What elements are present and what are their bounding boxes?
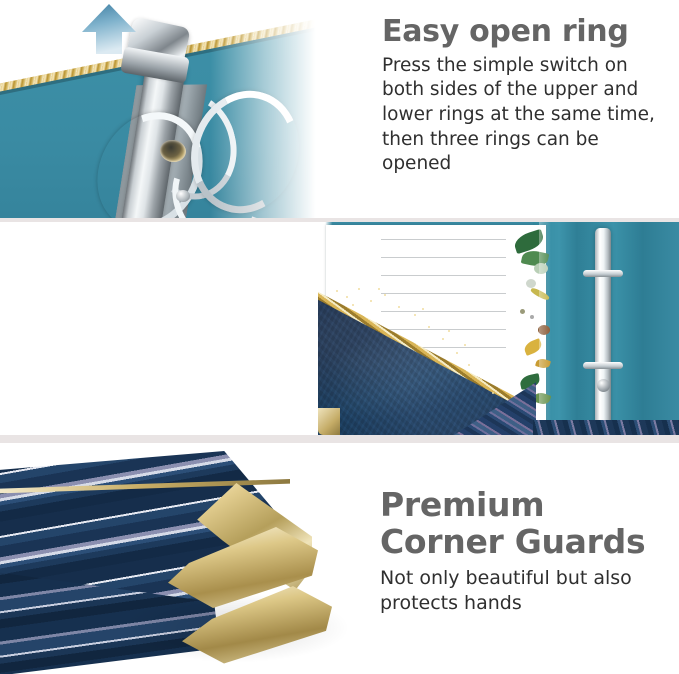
text-premium-corner-guards: Premium Corner Guards Not only beautiful… — [380, 488, 670, 616]
corner-guard-photo — [0, 443, 370, 674]
heading-easy-open-ring: Easy open ring — [382, 16, 664, 48]
binder-spine-edge — [539, 222, 551, 435]
mechanism-rivet-small — [176, 190, 190, 202]
heading-premium-corner-guards-line2: Corner Guards — [380, 525, 670, 560]
body-premium-corner-guards: Not only beautiful but also protects han… — [380, 566, 670, 617]
panel-easy-open-ring: Easy open ring Press the simple switch o… — [0, 0, 679, 218]
panel-built-in-pockets: Built in pockets To store loose document — [0, 222, 679, 435]
ring-collar — [583, 270, 623, 277]
marble-bottom-strip — [533, 420, 679, 435]
arrow-up-icon — [78, 2, 140, 54]
ring-collar — [583, 362, 623, 369]
ring-mechanism-photo — [0, 0, 330, 218]
chrome-ring-bar — [595, 228, 611, 428]
heading-premium-corner-guards-line1: Premium — [380, 488, 670, 523]
ring-bar-screw — [597, 379, 610, 392]
body-easy-open-ring: Press the simple switch on both sides of… — [382, 54, 664, 177]
product-infographic: Easy open ring Press the simple switch o… — [0, 0, 679, 674]
pockets-photo — [318, 222, 679, 435]
gold-corner-guard — [318, 408, 340, 435]
panel-premium-corner-guards: Premium Corner Guards Not only beautiful… — [0, 443, 679, 674]
cover-fade-overlay — [210, 0, 330, 218]
text-easy-open-ring: Easy open ring Press the simple switch o… — [382, 16, 664, 177]
panel-divider-2 — [0, 435, 679, 443]
